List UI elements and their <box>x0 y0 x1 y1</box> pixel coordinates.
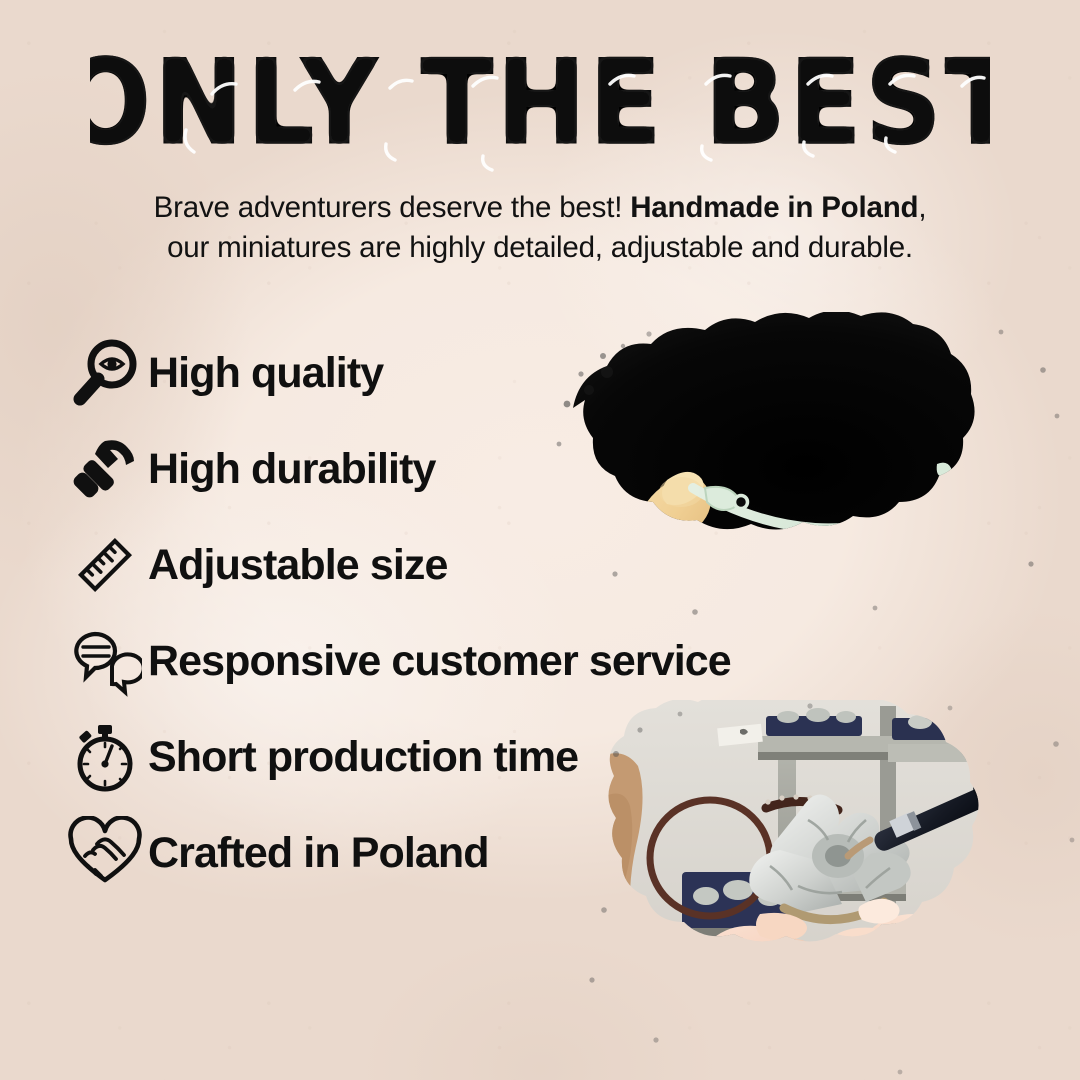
feature-label: Short production time <box>148 733 578 782</box>
feature-label: High durability <box>148 445 436 494</box>
painted-minis-foreground <box>987 979 1063 1055</box>
right-thumb <box>949 466 1045 612</box>
feature-item-customer-service: Responsive customer service <box>62 613 782 709</box>
handshake-heart-icon <box>62 813 148 893</box>
subtitle-line-1-lead: Brave adventurers deserve the best! <box>154 191 631 224</box>
subtitle-line-1: Brave adventurers deserve the best! Hand… <box>60 188 1020 228</box>
stopwatch-icon <box>62 717 148 797</box>
headline: ONLY THE BEST <box>0 38 1080 178</box>
flexible-miniature-photo-art <box>545 312 1065 622</box>
hammer-icon <box>62 429 148 509</box>
subtitle: Brave adventurers deserve the best! Hand… <box>60 188 1020 268</box>
feature-label: High quality <box>148 349 383 398</box>
workshop-painting-photo-art <box>570 700 1080 1080</box>
feature-label: Adjustable size <box>148 541 448 590</box>
promo-poster: ONLY THE BEST <box>0 0 1080 1080</box>
feature-label: Responsive customer service <box>148 637 731 686</box>
svg-text:ONLY THE BEST: ONLY THE BEST <box>90 38 990 172</box>
subtitle-line-2: our miniatures are highly detailed, adju… <box>60 228 1020 268</box>
feature-label: Crafted in Poland <box>148 829 489 878</box>
flexible-miniature-photo <box>545 312 1065 622</box>
workshop-painting-photo <box>570 700 1080 1080</box>
ruler-icon <box>62 525 148 605</box>
headline-text: ONLY THE BEST <box>90 38 990 178</box>
speech-bubbles-icon <box>62 621 148 701</box>
magnifier-eye-icon <box>62 333 148 413</box>
subtitle-line-1-bold: Handmade in Poland <box>630 191 918 224</box>
subtitle-line-1-tail: , <box>918 191 926 224</box>
blue-container <box>740 1036 860 1080</box>
